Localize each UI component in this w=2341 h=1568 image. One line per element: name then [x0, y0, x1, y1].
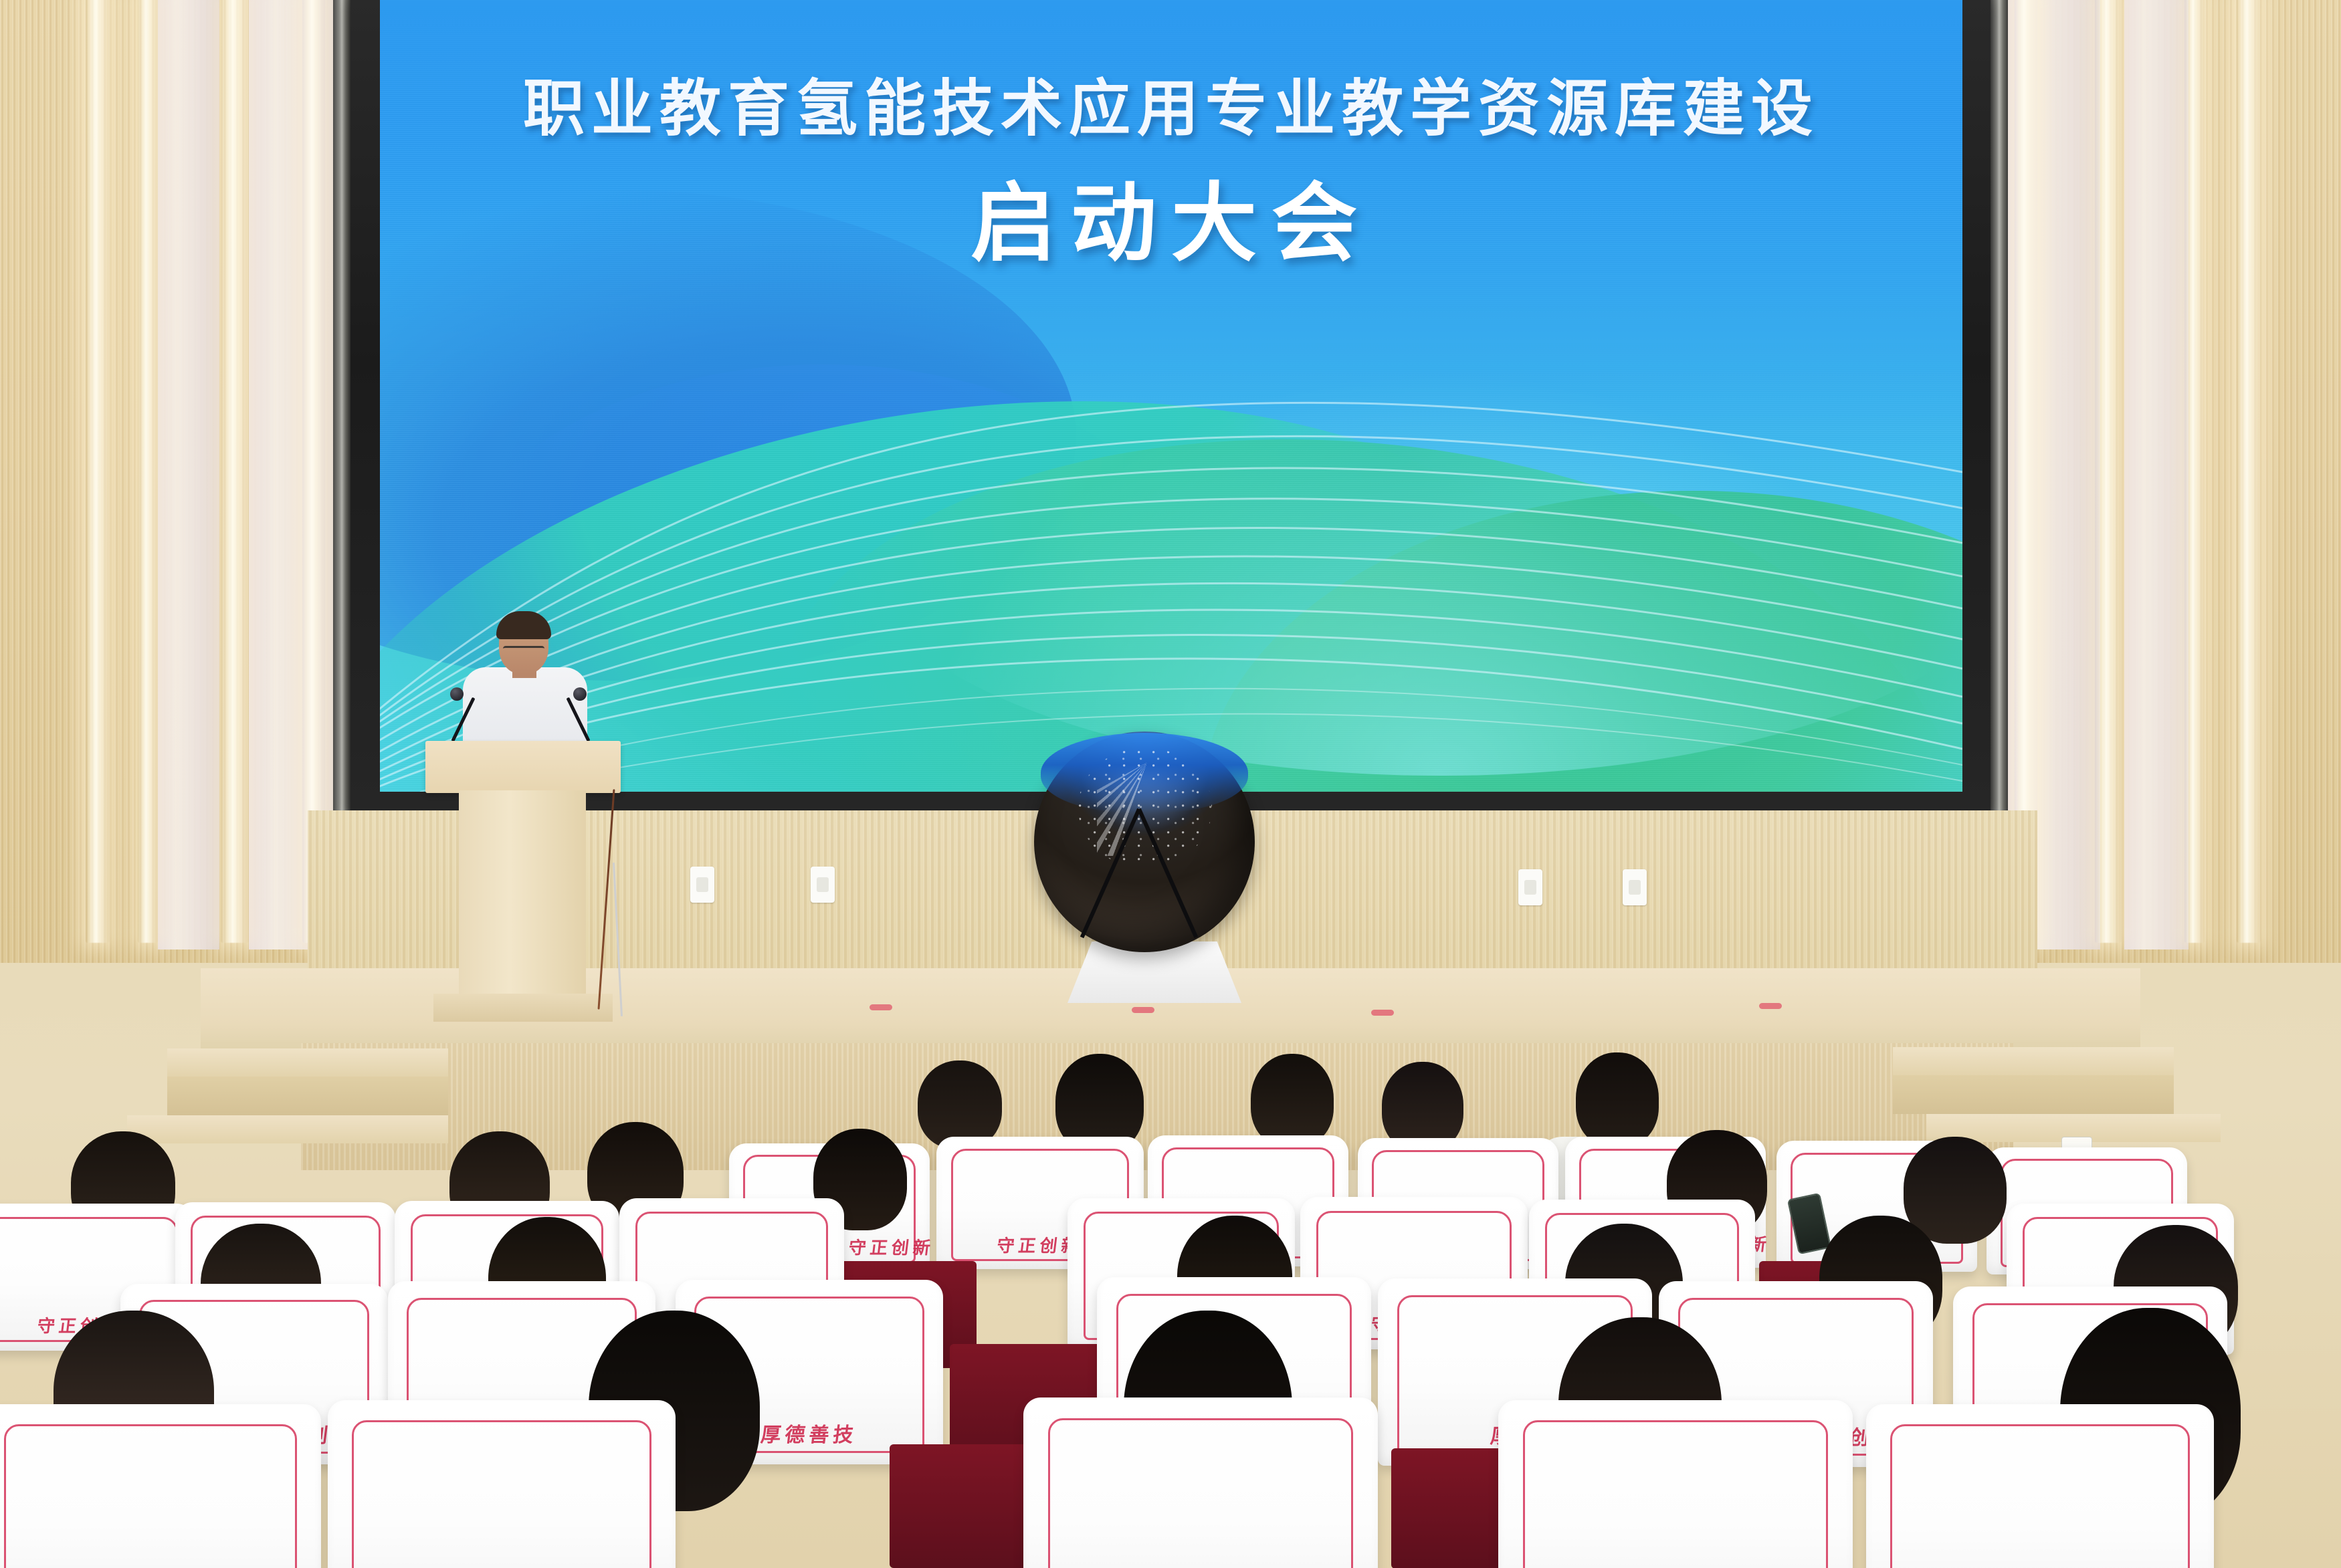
speaker-glasses [503, 646, 544, 656]
seat[interactable]: 厚德善技 守正创新 [0, 1404, 321, 1568]
seat[interactable]: 守正创新 [1023, 1397, 1378, 1568]
light-strip-right-3 [2184, 0, 2205, 943]
light-strip-left-3 [221, 0, 249, 943]
wall-power-socket[interactable] [690, 867, 714, 903]
audience-area: 厚德善技 守正创新 守正创新 厚德善技 创新 厚德善技 守正创新 厚德 守正创新 [0, 936, 2341, 1568]
attendee-head [1576, 1052, 1659, 1147]
light-strip-left-1 [86, 0, 110, 943]
microphone-right-head [573, 687, 587, 701]
light-strip-right-1 [2015, 0, 2037, 943]
led-screen: 职业教育氢能技术应用专业教学资源库建设 启动大会 [380, 0, 1962, 792]
screen-subtitle: 启动大会 [380, 154, 1962, 277]
wall-glass-column-left-2 [158, 0, 219, 949]
conference-hall-scene: 职业教育氢能技术应用专业教学资源库建设 启动大会 [0, 0, 2341, 1568]
light-strip-left-4 [302, 0, 325, 943]
wall-light-switch-right[interactable] [1623, 869, 1647, 905]
seat[interactable]: 厚德善技 守正创新 [1498, 1400, 1853, 1568]
light-strip-right-2 [2095, 0, 2122, 943]
hologram-fan-blur [1097, 762, 1197, 856]
seat[interactable]: 厚德善技 [328, 1400, 676, 1568]
wall-light-switch[interactable] [811, 867, 835, 903]
screen-title: 职业教育氢能技术应用专业教学资源库建设 [380, 59, 1962, 148]
wall-power-socket-right[interactable] [1518, 869, 1542, 905]
podium-top [425, 741, 621, 793]
light-strip-right-4 [2237, 0, 2261, 943]
attendee-head [1251, 1054, 1334, 1147]
wall-glass-column-right-2 [2124, 0, 2189, 949]
seat[interactable]: 创新 [1866, 1404, 2214, 1568]
microphone-left-head [450, 687, 464, 701]
attendee-head [918, 1060, 1002, 1149]
light-strip-left-2 [138, 0, 158, 943]
